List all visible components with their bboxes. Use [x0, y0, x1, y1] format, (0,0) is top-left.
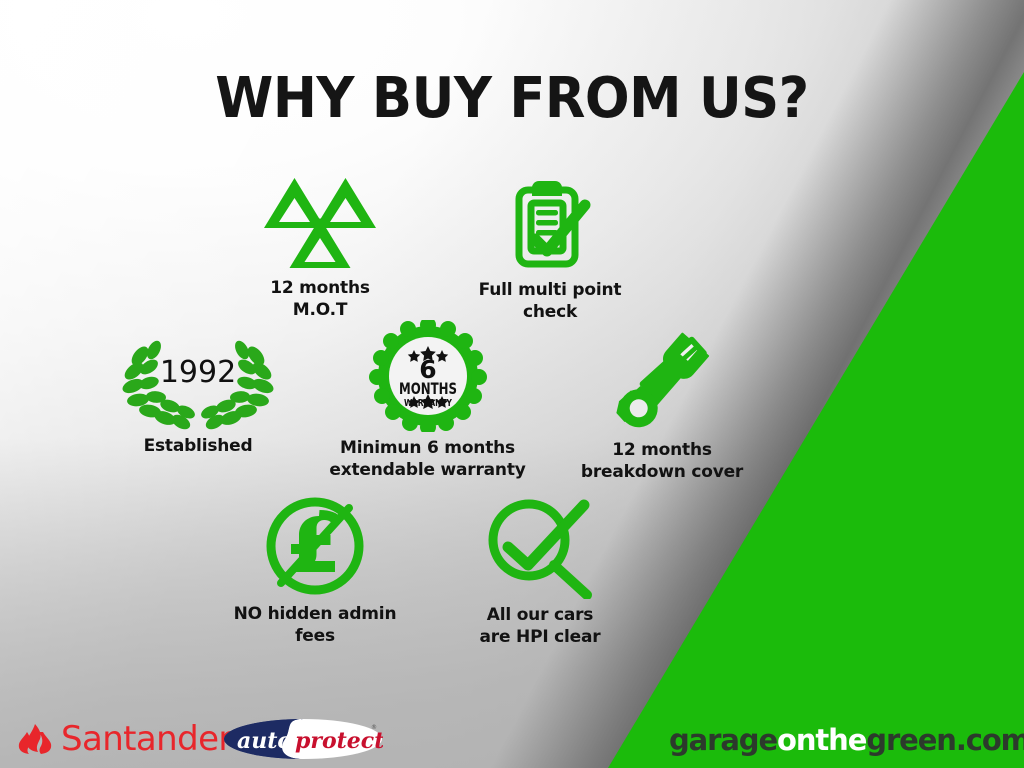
warranty-caption-line2: extendable warranty — [320, 460, 535, 482]
autoprotect-trademark: ® — [371, 724, 377, 731]
hpi-caption-line1: All our cars — [487, 605, 593, 625]
feature-warranty: 6 MONTHS WARRANTY Minimun 6 months exten… — [320, 320, 535, 482]
mot-triangles-icon — [261, 176, 379, 272]
autoprotect-part2: protect — [295, 728, 383, 754]
magnifier-check-icon — [484, 495, 596, 599]
established-caption: Established — [105, 436, 291, 458]
clipboard-icon-wrap — [455, 178, 645, 274]
wrench-screwdriver-icon — [592, 326, 732, 434]
established-year: 1992 — [160, 355, 236, 390]
laurel-wreath-icon: 1992 — [118, 330, 278, 430]
mot-caption: 12 months M.O.T — [225, 278, 415, 322]
santander-logo: Santander — [18, 722, 232, 756]
autoprotect-logo: auto protect ® — [223, 716, 383, 762]
autoprotect-logo-mark: auto protect ® — [223, 716, 383, 762]
mot-caption-line2: M.O.T — [225, 300, 415, 322]
feature-mot: 12 months M.O.T — [225, 176, 415, 322]
autoprotect-part1: auto — [237, 728, 292, 754]
breakdown-caption-line2: breakdown cover — [562, 462, 762, 484]
breakdown-caption-line1: 12 months — [612, 440, 712, 460]
feature-hpi-clear: All our cars are HPI clear — [450, 495, 630, 649]
no-fees-caption-line1: NO hidden admin — [234, 604, 397, 624]
warranty-icon-wrap: 6 MONTHS WARRANTY — [320, 320, 535, 432]
mot-caption-line1: 12 months — [270, 278, 370, 298]
warranty-caption: Minimun 6 months extendable warranty — [320, 438, 535, 482]
established-caption-line1: Established — [144, 436, 253, 456]
laurel-icon-wrap: 1992 — [105, 330, 291, 430]
garage-on-the-green-logo: garageonthegreen.com — [669, 726, 1024, 755]
breakdown-caption: 12 months breakdown cover — [562, 440, 762, 484]
no-fees-caption: NO hidden admin fees — [215, 604, 415, 648]
tools-icon-wrap — [562, 326, 762, 434]
page-title: WHY BUY FROM US? — [31, 66, 994, 131]
feature-established: 1992 Established — [105, 330, 291, 458]
promo-graphic: WHY BUY FROM US? 12 months M.O.T — [0, 0, 1024, 768]
feature-no-fees: NO hidden admin fees — [215, 494, 415, 648]
no-pound-fees-icon — [263, 494, 367, 598]
warranty-months: MONTHS — [399, 379, 457, 398]
multipoint-caption-line1: Full multi point — [479, 280, 622, 300]
mot-icon-wrap — [225, 176, 415, 272]
gotg-part2: onthe — [777, 723, 866, 757]
gotg-part1: garage — [669, 723, 777, 757]
warranty-caption-line1: Minimun 6 months — [340, 438, 515, 458]
warranty-badge-icon: 6 MONTHS WARRANTY — [369, 320, 487, 432]
multipoint-caption: Full multi point check — [455, 280, 645, 324]
gotg-part3: green.com — [866, 723, 1024, 757]
no-fees-caption-line2: fees — [215, 626, 415, 648]
feature-multipoint: Full multi point check — [455, 178, 645, 324]
no-fees-icon-wrap — [215, 494, 415, 598]
santander-flame-icon — [18, 723, 52, 755]
clipboard-check-icon — [502, 178, 598, 274]
hpi-icon-wrap — [450, 495, 630, 599]
feature-breakdown: 12 months breakdown cover — [562, 326, 762, 484]
hpi-caption-line2: are HPI clear — [450, 627, 630, 649]
santander-wordmark: Santander — [61, 722, 232, 756]
warranty-word: WARRANTY — [404, 398, 453, 409]
hpi-caption: All our cars are HPI clear — [450, 605, 630, 649]
